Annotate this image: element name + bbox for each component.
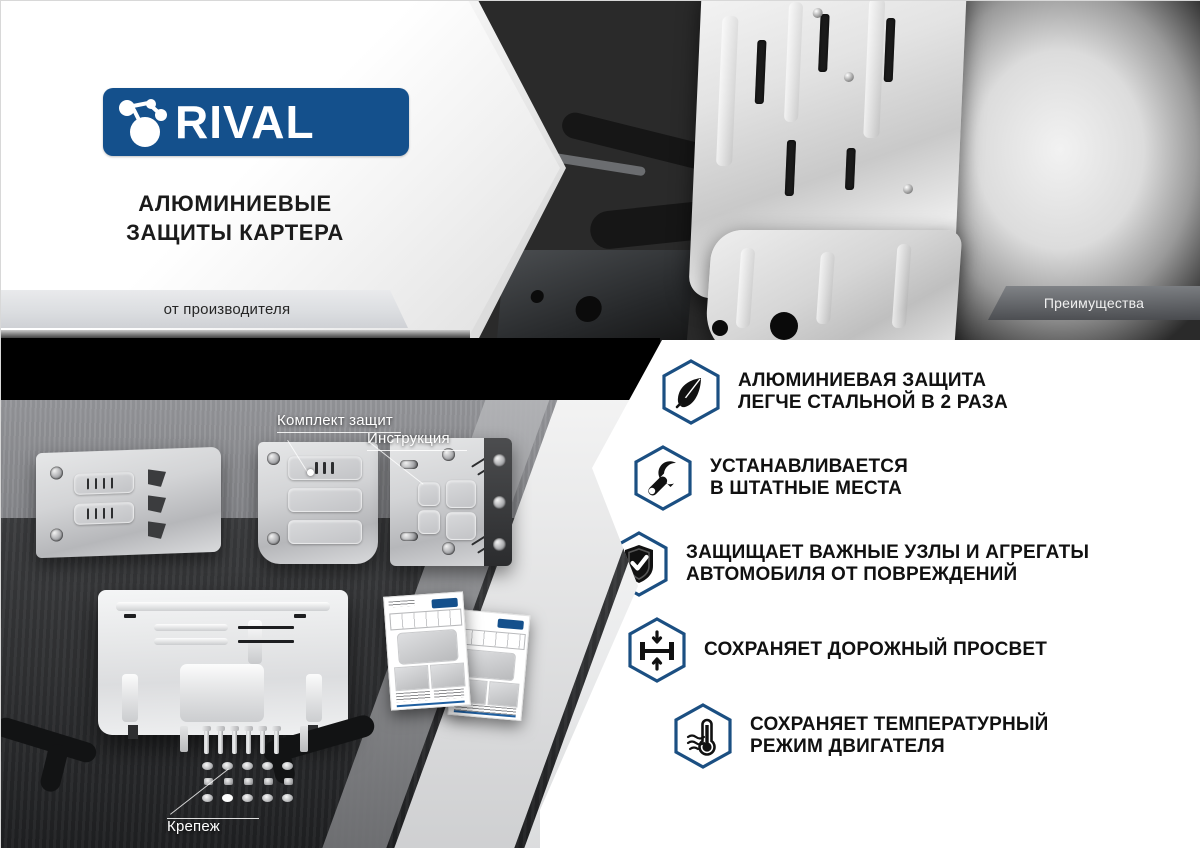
guard-plate-3 bbox=[390, 438, 512, 566]
callout-instruction-visible: Инструкция bbox=[372, 622, 472, 643]
feature-text-clearance: СОХРАНЯЕТ ДОРОЖНЫЙ ПРОСВЕТ bbox=[704, 639, 1047, 661]
feature-temperature-line1: СОХРАНЯЕТ ТЕМПЕРАТУРНЫЙ bbox=[750, 714, 1049, 735]
guard-plate-2 bbox=[258, 442, 378, 564]
feature-temperature-line2: РЕЖИМ ДВИГАТЕЛЯ bbox=[750, 736, 945, 757]
poster-root: RIVAL АЛЮМИНИЕВЫЕ ЗАЩИТЫ КАРТЕРА от прои… bbox=[0, 0, 1200, 848]
wrench-icon bbox=[632, 444, 694, 512]
fuel-tank-shield bbox=[495, 250, 695, 352]
rival-logo-text: RIVAL bbox=[175, 99, 315, 145]
page-title-line1: АЛЮМИНИЕВЫЕ bbox=[0, 190, 470, 219]
feature-text-temperature: СОХРАНЯЕТ ТЕМПЕРАТУРНЫЙ РЕЖИМ ДВИГАТЕЛЯ bbox=[750, 714, 1049, 759]
instruction-sheet-front bbox=[383, 591, 471, 710]
feature-item-weight: АЛЮМИНИЕВАЯ ЗАЩИТА ЛЕГЧЕ СТАЛЬНОЙ В 2 РА… bbox=[660, 358, 1190, 426]
guard-plate-1 bbox=[36, 447, 221, 558]
tab-advantages[interactable]: Преимущества bbox=[988, 286, 1200, 320]
feature-install-line1: УСТАНАВЛИВАЕТСЯ bbox=[710, 456, 908, 477]
black-separator-bar bbox=[0, 338, 660, 404]
page-title-line2: ЗАЩИТЫ КАРТЕРА bbox=[0, 219, 470, 248]
tagline-text: от производителя bbox=[164, 301, 291, 318]
molecule-icon bbox=[115, 94, 177, 150]
feature-text-protection: ЗАЩИЩАЕТ ВАЖНЫЕ УЗЛЫ И АГРЕГАТЫ АВТОМОБИ… bbox=[686, 542, 1089, 587]
rival-logo: RIVAL bbox=[103, 88, 409, 156]
tagline-band: от производителя bbox=[0, 290, 408, 328]
feature-item-protection: ЗАЩИЩАЕТ ВАЖНЫЕ УЗЛЫ И АГРЕГАТЫ АВТОМОБИ… bbox=[608, 530, 1190, 598]
feature-item-temperature: СОХРАНЯЕТ ТЕМПЕРАТУРНЫЙ РЕЖИМ ДВИГАТЕЛЯ bbox=[672, 702, 1190, 770]
callout-instruction-label: Инструкция bbox=[367, 430, 467, 450]
main-guard-plate bbox=[98, 590, 348, 735]
feature-item-install: УСТАНАВЛИВАЕТСЯ В ШТАТНЫЕ МЕСТА bbox=[632, 444, 1190, 512]
feature-clearance-line1: СОХРАНЯЕТ ДОРОЖНЫЙ ПРОСВЕТ bbox=[704, 639, 1047, 660]
features-list: АЛЮМИНИЕВАЯ ЗАЩИТА ЛЕГЧЕ СТАЛЬНОЙ В 2 РА… bbox=[660, 358, 1190, 788]
thermometer-icon bbox=[672, 702, 734, 770]
feature-weight-line2: ЛЕГЧЕ СТАЛЬНОЙ В 2 РАЗА bbox=[738, 392, 1008, 413]
page-title: АЛЮМИНИЕВЫЕ ЗАЩИТЫ КАРТЕРА bbox=[0, 190, 470, 247]
engine-guard-plate-lower bbox=[703, 230, 962, 352]
feature-text-weight: АЛЮМИНИЕВАЯ ЗАЩИТА ЛЕГЧЕ СТАЛЬНОЙ В 2 РА… bbox=[738, 370, 1008, 415]
feature-protection-line1: ЗАЩИЩАЕТ ВАЖНЫЕ УЗЛЫ И АГРЕГАТЫ bbox=[686, 542, 1089, 563]
feature-protection-line2: АВТОМОБИЛЯ ОТ ПОВРЕЖДЕНИЙ bbox=[686, 564, 1017, 585]
leaf-icon bbox=[660, 358, 722, 426]
callout-kit-label: Комплект защит bbox=[277, 412, 401, 432]
ground-clearance-icon bbox=[626, 616, 688, 684]
hardware-group bbox=[178, 726, 328, 812]
feature-install-line2: В ШТАТНЫЕ МЕСТА bbox=[710, 478, 902, 499]
callout-kit-dot bbox=[307, 469, 314, 476]
callout-hardware-label: Крепеж bbox=[167, 813, 259, 835]
feature-item-clearance: СОХРАНЯЕТ ДОРОЖНЫЙ ПРОСВЕТ bbox=[626, 616, 1190, 684]
brand-panel: RIVAL АЛЮМИНИЕВЫЕ ЗАЩИТЫ КАРТЕРА от прои… bbox=[0, 0, 580, 340]
advantages-panel: АЛЮМИНИЕВАЯ ЗАЩИТА ЛЕГЧЕ СТАЛЬНОЙ В 2 РА… bbox=[540, 340, 1200, 848]
callout-hardware: Крепеж bbox=[167, 812, 259, 835]
tab-advantages-label: Преимущества bbox=[1044, 295, 1144, 311]
feature-weight-line1: АЛЮМИНИЕВАЯ ЗАЩИТА bbox=[738, 370, 986, 391]
feature-text-install: УСТАНАВЛИВАЕТСЯ В ШТАТНЫЕ МЕСТА bbox=[710, 456, 908, 501]
